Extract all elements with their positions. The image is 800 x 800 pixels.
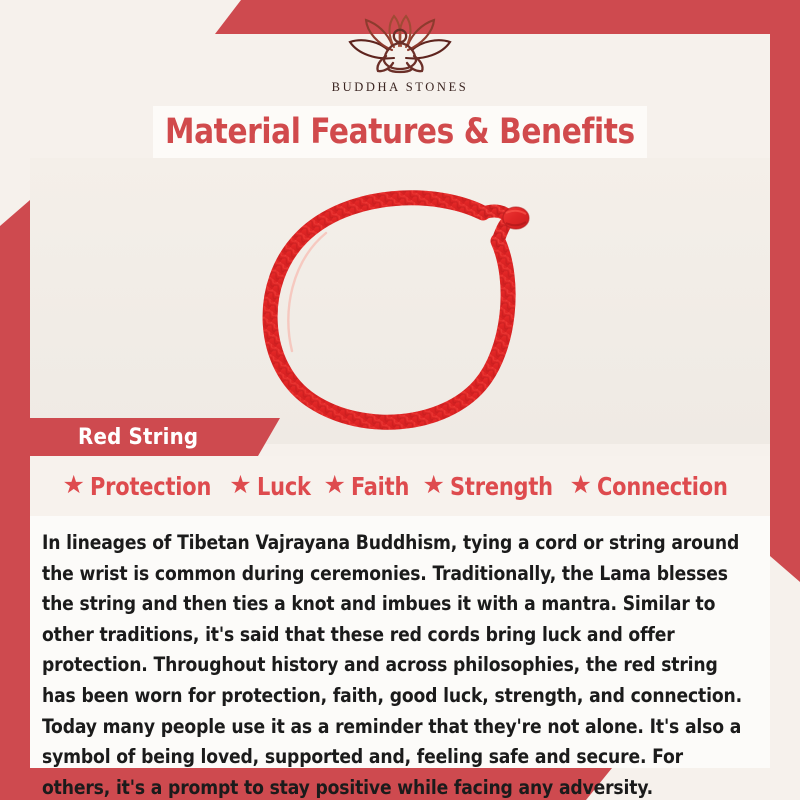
star-icon: ★ bbox=[63, 473, 85, 498]
section-ribbon: Red String bbox=[30, 418, 280, 456]
star-icon: ★ bbox=[229, 473, 251, 498]
red-string-bracelet-image bbox=[230, 161, 570, 441]
poster-inner: BUDDHA STONES Material Features & Benefi… bbox=[30, 34, 770, 768]
frame-band-top bbox=[215, 0, 800, 34]
benefits-list: ★ Protection ★ Luck ★ Faith ★ Strength ★… bbox=[30, 456, 770, 516]
benefit-item-luck: ★ Luck bbox=[229, 472, 314, 501]
title-banner: Material Features & Benefits bbox=[153, 106, 647, 158]
benefit-label: Faith bbox=[351, 472, 409, 501]
product-photo bbox=[30, 158, 770, 444]
star-icon: ★ bbox=[423, 473, 445, 498]
frame-band-left bbox=[0, 200, 30, 800]
bracelet-knot bbox=[503, 207, 529, 229]
benefit-item-faith: ★ Faith bbox=[324, 472, 414, 501]
benefit-label: Strength bbox=[450, 472, 553, 501]
description-paragraph: In lineages of Tibetan Vajrayana Buddhis… bbox=[42, 528, 747, 800]
benefit-label: Protection bbox=[90, 472, 211, 501]
benefit-label: Luck bbox=[257, 472, 311, 501]
brand-name: BUDDHA STONES bbox=[332, 80, 469, 95]
frame-band-right bbox=[770, 0, 800, 582]
description-block: In lineages of Tibetan Vajrayana Buddhis… bbox=[30, 516, 770, 768]
section-label: Red String bbox=[78, 425, 198, 450]
benefit-item-protection: ★ Protection bbox=[63, 472, 221, 501]
benefit-item-strength: ★ Strength bbox=[423, 472, 561, 501]
star-icon: ★ bbox=[324, 473, 346, 498]
benefit-item-connection: ★ Connection bbox=[570, 472, 738, 501]
page-title: Material Features & Benefits bbox=[165, 112, 635, 152]
infographic-poster: BUDDHA STONES Material Features & Benefi… bbox=[0, 0, 800, 800]
benefit-label: Connection bbox=[597, 472, 728, 501]
star-icon: ★ bbox=[570, 473, 592, 498]
